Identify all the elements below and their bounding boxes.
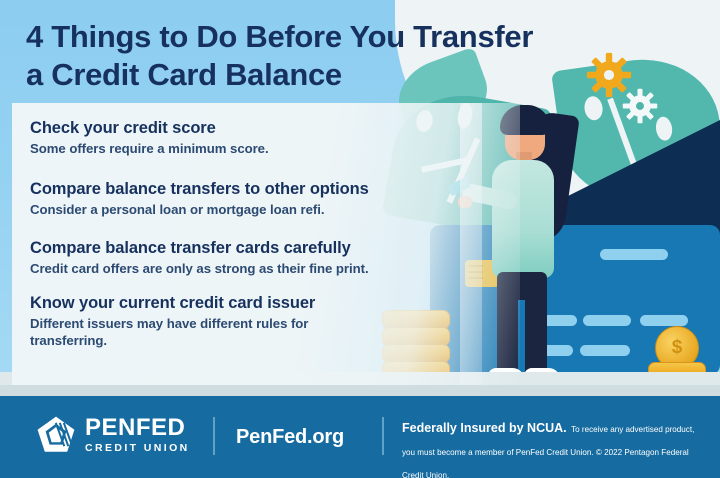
list-item: Check your credit score Some offers requ… <box>30 118 480 157</box>
tip-heading: Know your current credit card issuer <box>30 293 480 314</box>
page-title: 4 Things to Do Before You Transfer a Cre… <box>26 18 626 95</box>
ncua-notice: Federally Insured by NCUA. <box>402 421 567 435</box>
gear-icon-secondary <box>622 88 658 124</box>
logo-tagline: CREDIT UNION <box>85 443 190 454</box>
title-line-2: a Credit Card Balance <box>26 56 626 94</box>
footer-divider <box>213 417 215 455</box>
tip-subtext: Some offers require a minimum score. <box>30 140 480 157</box>
title-line-1: 4 Things to Do Before You Transfer <box>26 18 626 56</box>
logo-name: PENFED <box>85 416 190 440</box>
list-item: Compare balance transfer cards carefully… <box>30 238 480 277</box>
list-item: Know your current credit card issuer Dif… <box>30 293 480 349</box>
tip-heading: Check your credit score <box>30 118 480 139</box>
card-detail-bar <box>600 249 668 260</box>
tip-subtext: Different issuers may have different rul… <box>30 315 312 350</box>
card-number-bar <box>640 315 688 326</box>
penfed-pentagon-icon <box>36 415 76 455</box>
tips-list: Check your credit score Some offers requ… <box>30 118 480 363</box>
website-link[interactable]: PenFed.org <box>236 426 344 449</box>
card-number-bar <box>580 345 630 356</box>
legal-disclaimer: Federally Insured by NCUA. To receive an… <box>402 416 702 478</box>
penfed-logo[interactable]: PENFED CREDIT UNION <box>36 415 190 455</box>
leaf-notch <box>583 95 604 121</box>
tip-heading: Compare balance transfers to other optio… <box>30 179 480 200</box>
card-number-bar <box>583 315 631 326</box>
list-item: Compare balance transfers to other optio… <box>30 179 480 218</box>
tip-subtext: Credit card offers are only as strong as… <box>30 260 480 277</box>
infographic-root: $ 4 Things to Do Before You Transfer a C… <box>0 0 720 478</box>
tip-heading: Compare balance transfer cards carefully <box>30 238 480 259</box>
tip-subtext: Consider a personal loan or mortgage loa… <box>30 201 480 218</box>
ground-shadow <box>0 385 720 396</box>
footer-divider <box>382 417 384 455</box>
penfed-wordmark: PENFED CREDIT UNION <box>85 416 190 454</box>
